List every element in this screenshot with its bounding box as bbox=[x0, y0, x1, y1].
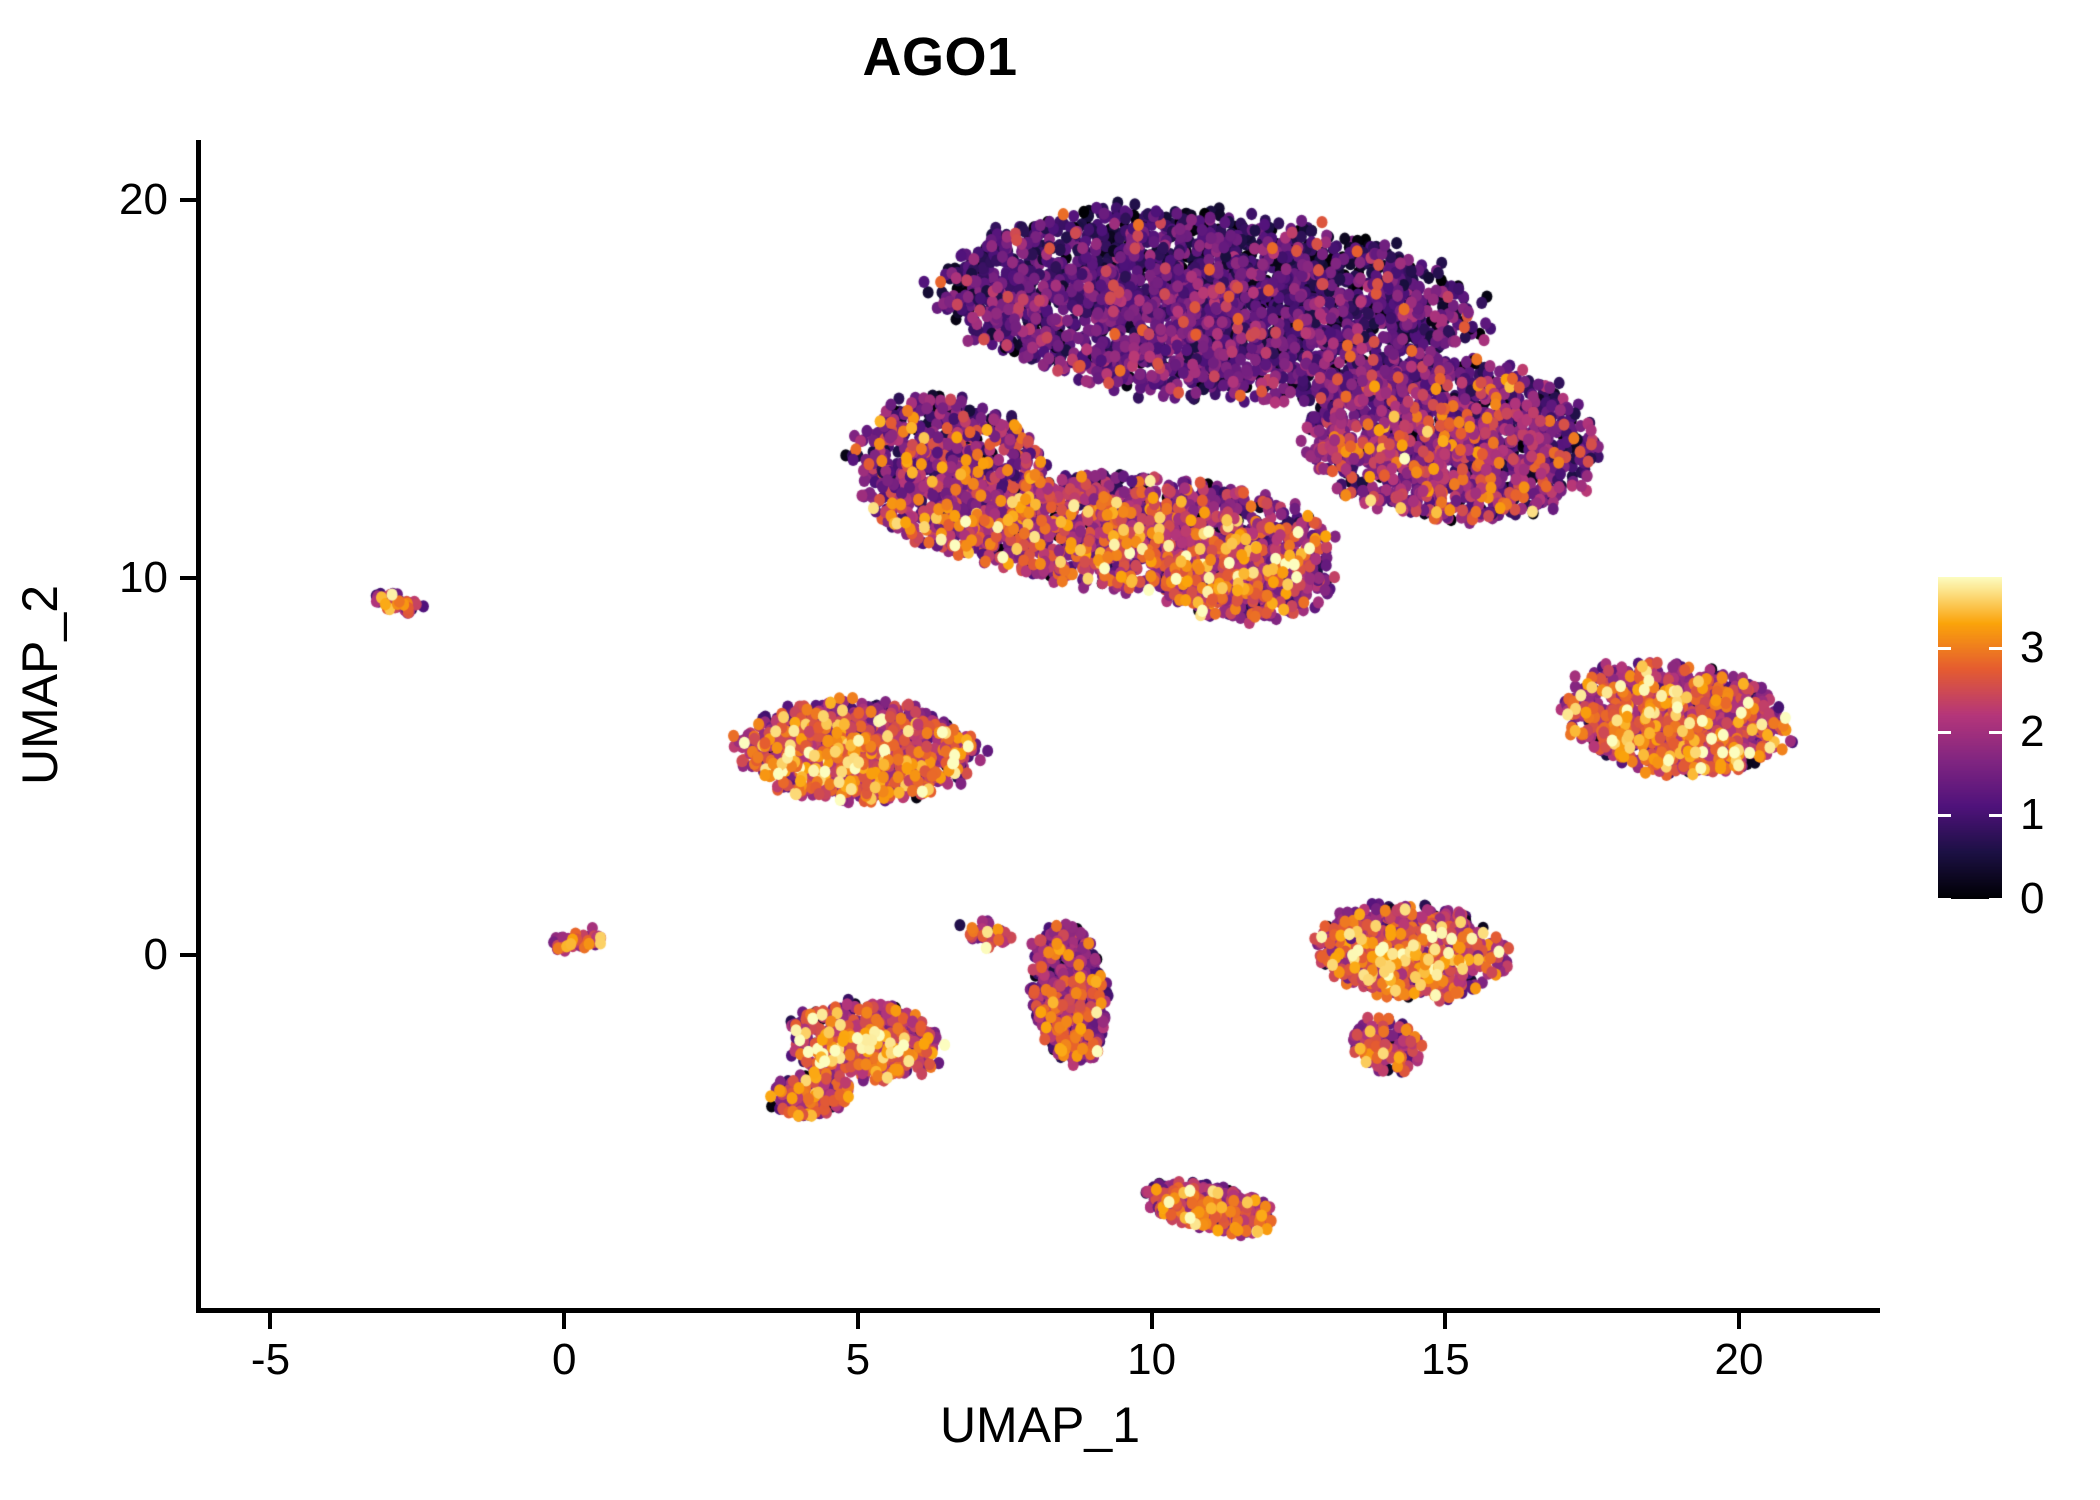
colorbar-tick bbox=[1938, 898, 1951, 901]
y-tick bbox=[180, 576, 196, 580]
scatter-plot-canvas bbox=[200, 140, 1880, 1310]
y-tick-label: 20 bbox=[0, 176, 168, 224]
x-axis-label: UMAP_1 bbox=[200, 1400, 1880, 1450]
x-tick bbox=[562, 1313, 566, 1329]
x-tick-label: 15 bbox=[1355, 1336, 1535, 1384]
colorbar-tick bbox=[1938, 731, 1951, 734]
colorbar-legend: 0123 bbox=[1938, 577, 2002, 899]
x-tick bbox=[268, 1313, 272, 1329]
colorbar-tick bbox=[1938, 814, 1951, 817]
x-tick-label: 10 bbox=[1062, 1336, 1242, 1384]
x-tick bbox=[1150, 1313, 1154, 1329]
colorbar-tick bbox=[1989, 814, 2002, 817]
x-tick bbox=[1443, 1313, 1447, 1329]
y-tick bbox=[180, 953, 196, 957]
colorbar-tick-label: 3 bbox=[2020, 626, 2044, 670]
colorbar-tick-label: 0 bbox=[2020, 877, 2044, 921]
y-axis-line bbox=[196, 140, 201, 1312]
page-title: AGO1 bbox=[0, 30, 1880, 84]
x-tick-label: -5 bbox=[180, 1336, 360, 1384]
x-axis-line bbox=[196, 1308, 1880, 1313]
x-tick-label: 20 bbox=[1649, 1336, 1829, 1384]
y-axis-label: UMAP_2 bbox=[15, 335, 65, 1035]
colorbar-tick bbox=[1989, 647, 2002, 650]
x-tick-label: 5 bbox=[768, 1336, 948, 1384]
colorbar-tick-label: 1 bbox=[2020, 793, 2044, 837]
chart-root: AGO1 -505101520 01020 UMAP_1 UMAP_2 0123 bbox=[0, 0, 2100, 1500]
colorbar-tick bbox=[1989, 731, 2002, 734]
x-tick bbox=[1737, 1313, 1741, 1329]
x-tick-label: 0 bbox=[474, 1336, 654, 1384]
colorbar-tick bbox=[1989, 898, 2002, 901]
y-tick bbox=[180, 198, 196, 202]
colorbar-gradient bbox=[1938, 577, 2002, 899]
x-tick bbox=[856, 1313, 860, 1329]
colorbar-tick bbox=[1938, 647, 1951, 650]
colorbar-tick-label: 2 bbox=[2020, 710, 2044, 754]
plot-panel bbox=[200, 140, 1880, 1310]
